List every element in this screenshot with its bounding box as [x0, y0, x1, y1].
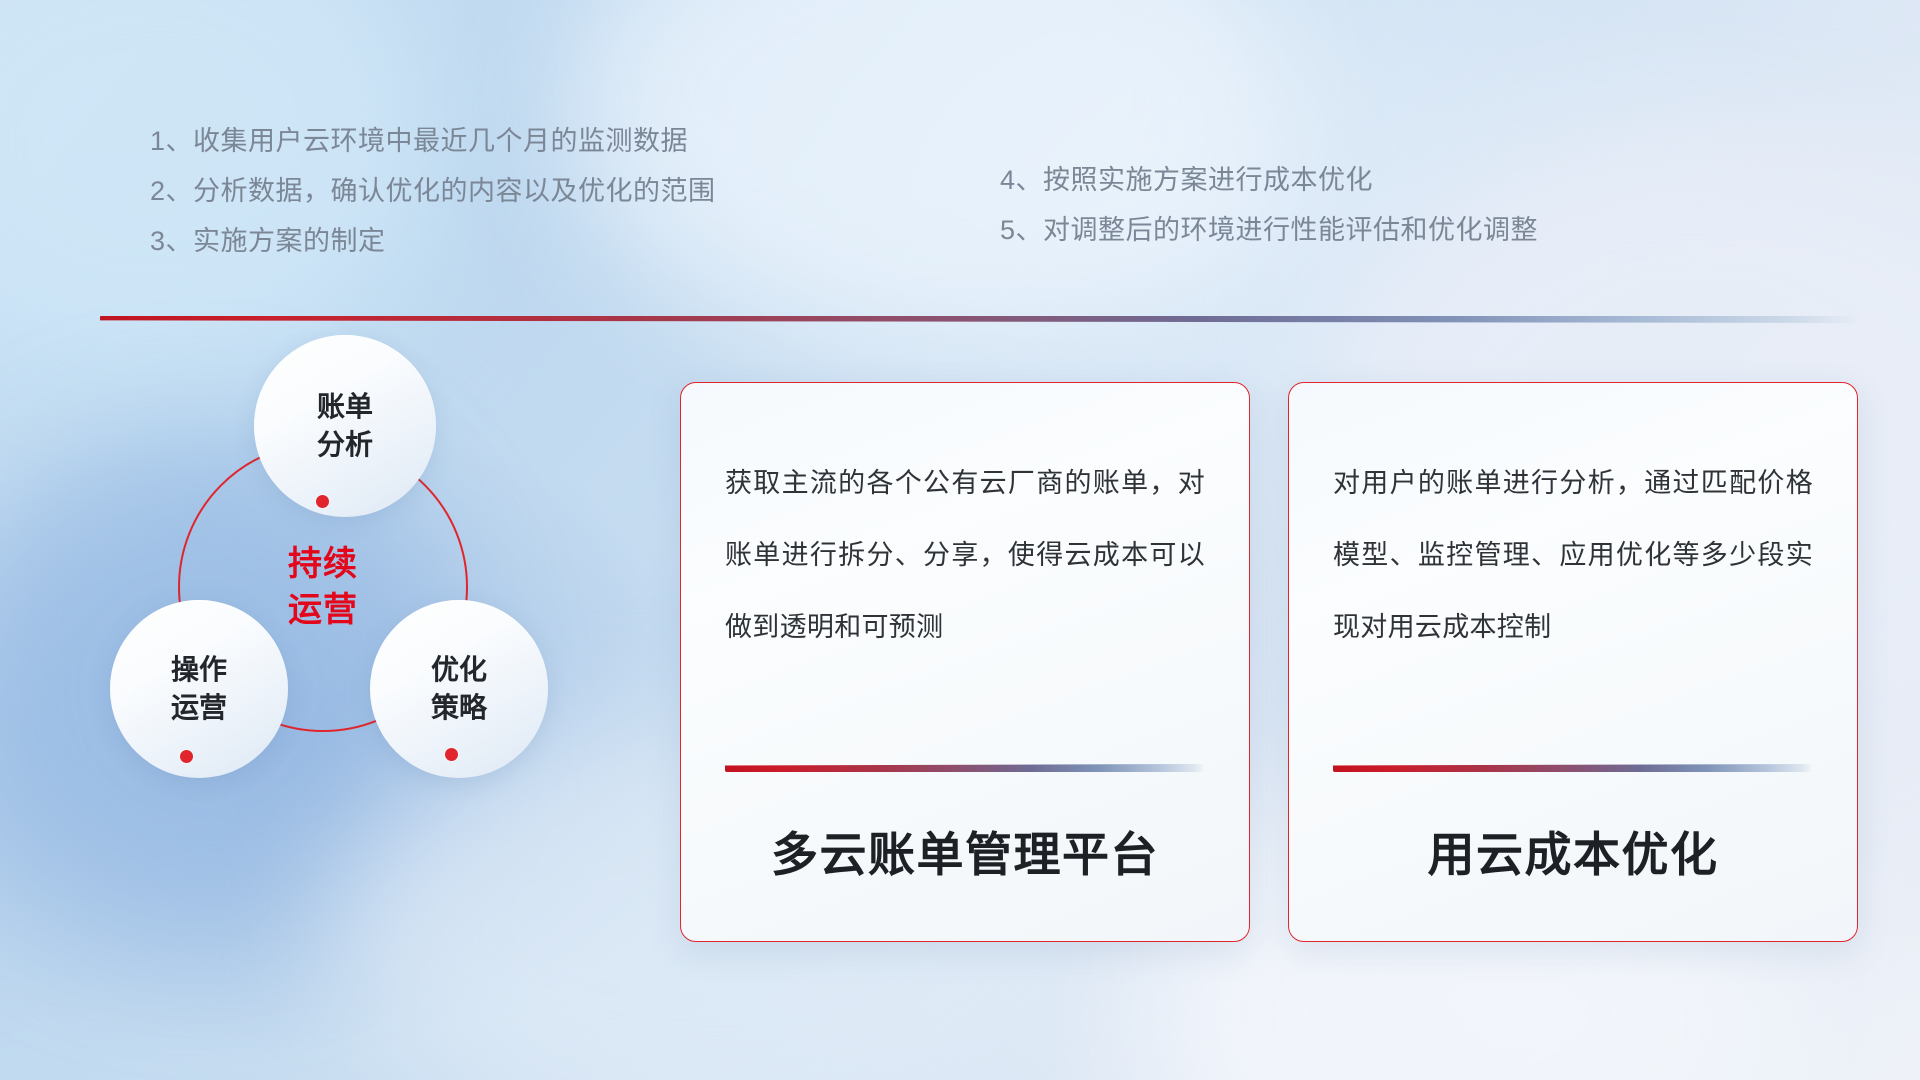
card-body-text: 获取主流的各个公有云厂商的账单，对账单进行拆分、分享，使得云成本可以做到透明和可… [725, 447, 1205, 697]
connector-dot-top [316, 495, 329, 508]
bullet-item-5: 5、对调整后的环境进行性能评估和优化调整 [1000, 205, 1538, 255]
node-label-line-1: 账单 [317, 388, 373, 426]
bullet-list-right: 4、按照实施方案进行成本优化 5、对调整后的环境进行性能评估和优化调整 [1000, 155, 1538, 255]
info-card-cloud-cost-optimization[interactable]: 对用户的账单进行分析，通过匹配价格模型、监控管理、应用优化等多少段实现对用云成本… [1288, 382, 1858, 942]
connector-dot-left [180, 750, 193, 763]
bullet-list-left: 1、收集用户云环境中最近几个月的监测数据 2、分析数据，确认优化的内容以及优化的… [150, 116, 716, 266]
card-divider-rule [725, 764, 1205, 772]
diagram-node-bill-analysis[interactable]: 账单 分析 [254, 335, 436, 517]
section-divider-rule [100, 316, 1860, 323]
bullet-item-4: 4、按照实施方案进行成本优化 [1000, 155, 1538, 205]
card-title: 多云账单管理平台 [725, 816, 1205, 885]
node-label-line-2: 策略 [431, 689, 487, 727]
node-label-line-1: 操作 [171, 651, 227, 689]
slide-canvas: 1、收集用户云环境中最近几个月的监测数据 2、分析数据，确认优化的内容以及优化的… [0, 0, 1920, 1080]
bullet-item-1: 1、收集用户云环境中最近几个月的监测数据 [150, 116, 716, 166]
bullet-item-3: 3、实施方案的制定 [150, 216, 716, 266]
card-body-text: 对用户的账单进行分析，通过匹配价格模型、监控管理、应用优化等多少段实现对用云成本… [1333, 447, 1813, 697]
venn-diagram: 持续 运营 账单 分析 操作 运营 优化 策略 [100, 350, 640, 950]
center-label-line-1: 持续 [288, 541, 358, 587]
card-title: 用云成本优化 [1333, 816, 1813, 885]
node-label-line-2: 分析 [317, 426, 373, 464]
node-label-line-1: 优化 [431, 651, 487, 689]
diagram-node-optimization-strategy[interactable]: 优化 策略 [370, 600, 548, 778]
info-card-multicloud-billing[interactable]: 获取主流的各个公有云厂商的账单，对账单进行拆分、分享，使得云成本可以做到透明和可… [680, 382, 1250, 942]
center-label-line-2: 运营 [288, 587, 358, 633]
diagram-node-operations[interactable]: 操作 运营 [110, 600, 288, 778]
node-label-line-2: 运营 [171, 689, 227, 727]
connector-dot-right [445, 748, 458, 761]
bullet-item-2: 2、分析数据，确认优化的内容以及优化的范围 [150, 166, 716, 216]
card-divider-rule [1333, 764, 1813, 772]
